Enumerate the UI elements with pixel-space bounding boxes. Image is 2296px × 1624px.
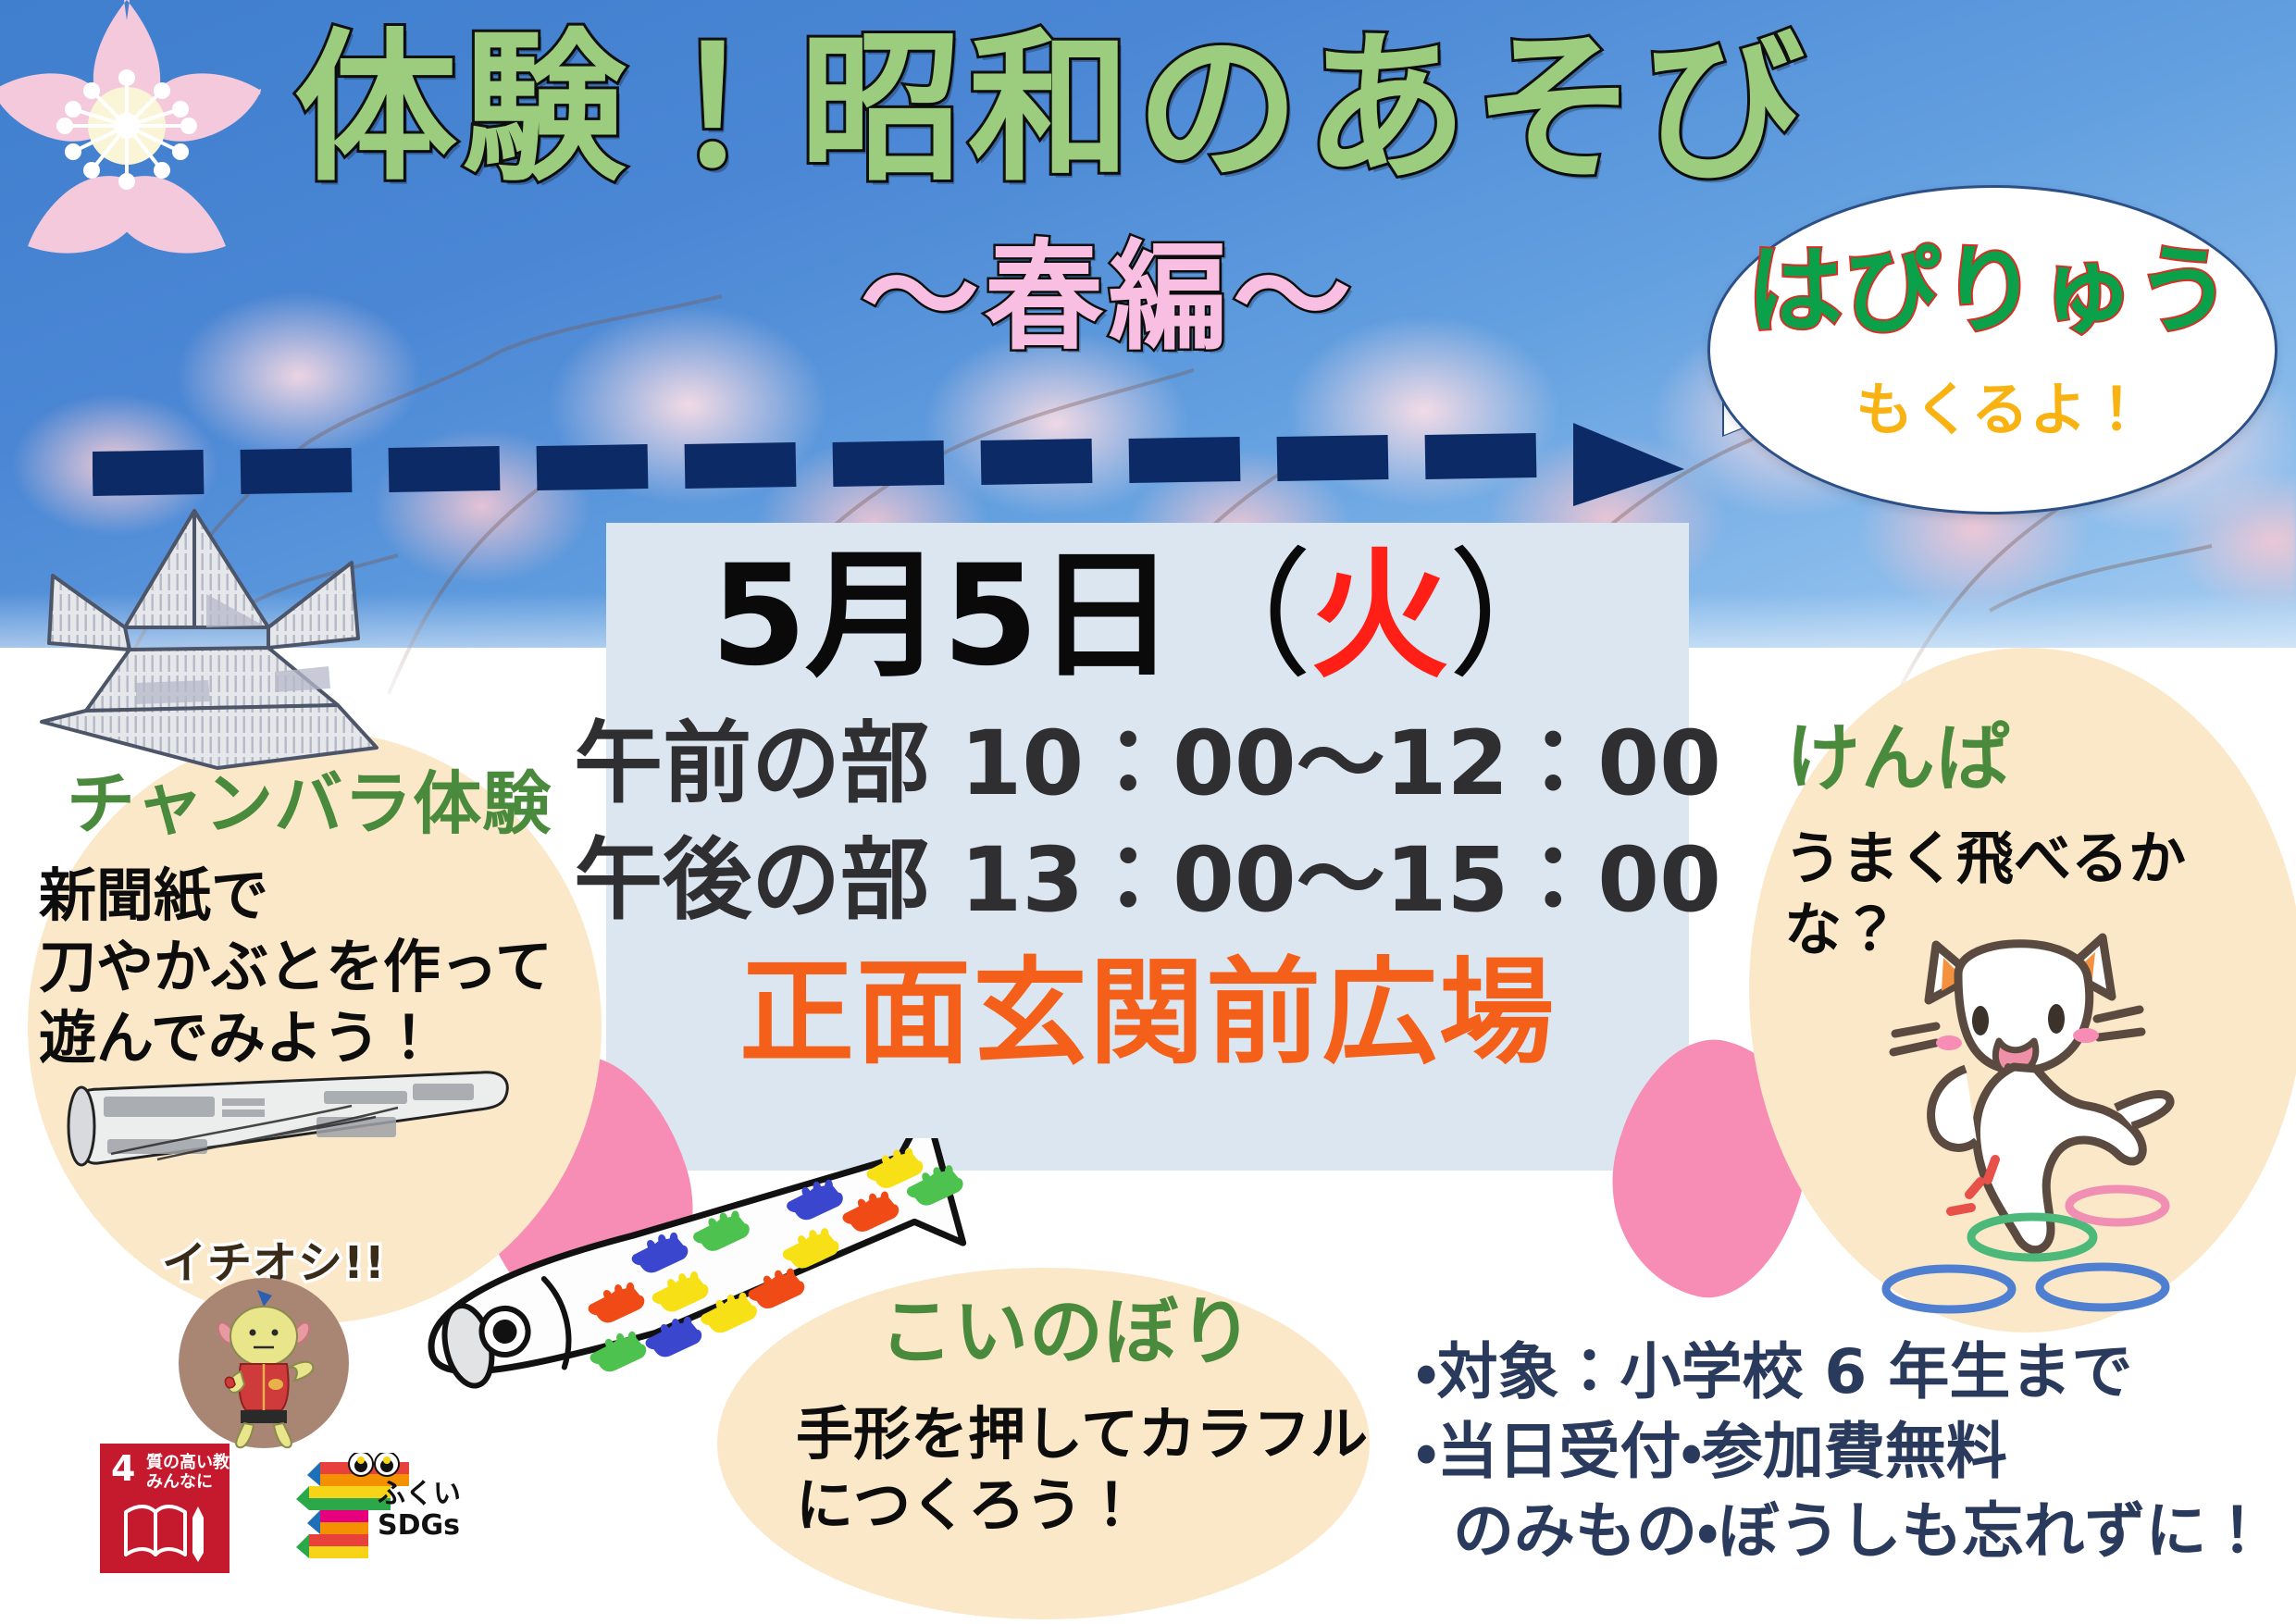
hopscotch-cat-illustration	[1869, 911, 2296, 1319]
note-line-2: ・当日受付・参加費無料	[1416, 1412, 2267, 1492]
callout-body-chanbara: 新聞紙で 刀やかぶとを作って 遊んでみよう！	[39, 861, 552, 1074]
event-weekday: 火	[1310, 536, 1447, 697]
callout-chanbara-line2: 刀やかぶとを作って	[39, 932, 552, 1003]
morning-session: 午前の部 10：00〜12：00	[574, 719, 1721, 808]
callout-koinobori-line2: につくろう！	[796, 1470, 1368, 1542]
event-date: 5月5日（火）	[711, 547, 1585, 686]
fukui-sdgs-label: ふくい SDGs	[378, 1479, 461, 1541]
callout-kenpa-line1: うまく飛べるかな？	[1784, 824, 2296, 966]
sdg-goal-4-card: 4 質の高い教育を みんなに	[100, 1444, 230, 1573]
callout-chanbara-line1: 新聞紙で	[39, 861, 552, 932]
callout-body-koinobori: 手形を押してカラフル につくろう！	[796, 1399, 1368, 1542]
note-line-3: のみもの・ぼうしも忘れずに！	[1416, 1492, 2267, 1571]
afternoon-session: 午後の部 13：00〜15：00	[574, 836, 1721, 924]
page-title: 体験！昭和のあそび	[294, 26, 1810, 192]
callout-chanbara-line3: 遊んでみよう！	[39, 1003, 552, 1074]
speech-bubble-line2: もくるよ！	[1855, 381, 2146, 439]
callout-body-kenpa: うまく飛べるかな？	[1784, 824, 2296, 966]
book-pencil-icon	[120, 1497, 209, 1564]
sakura-flower-icon	[0, 0, 270, 267]
event-notes: ・対象：小学校 6 年生まで ・当日受付・参加費無料 のみもの・ぼうしも忘れずに…	[1416, 1333, 2267, 1570]
sdg-goal-number: 4	[111, 1451, 135, 1486]
mascot-badge-icon	[176, 1275, 352, 1451]
note-line-1: ・対象：小学校 6 年生まで	[1416, 1333, 2267, 1412]
newspaper-kabuto-illustration	[32, 490, 412, 796]
callout-title-chanbara: チャンバラ体験	[67, 770, 552, 838]
event-info-panel: 5月5日（火） 午前の部 10：00〜12：00 午後の部 13：00〜15：0…	[606, 523, 1689, 1171]
callout-title-kenpa: けんぱ	[1786, 722, 2011, 796]
page-subtitle: 〜春編〜	[861, 239, 1357, 357]
callout-koinobori-line1: 手形を押してカラフル	[796, 1399, 1368, 1470]
event-date-text: 5月5日	[711, 536, 1174, 697]
mascot-speech-bubble: はぴりゅう もくるよ！	[1707, 185, 2272, 509]
paren-close: ）	[1447, 536, 1584, 697]
paren-open: （	[1173, 536, 1310, 697]
sdg-goal-text: 質の高い教育を みんなに	[146, 1453, 263, 1492]
event-venue: 正面玄関前広場	[739, 956, 1556, 1071]
speech-bubble-line1: はぴりゅう	[1746, 242, 2232, 339]
poster-canvas: 体験！昭和のあそび 〜春編〜 はぴりゅう もくるよ！ 5月5日（火） 午前の部 …	[0, 0, 2296, 1624]
callout-title-koinobori: こいのぼり	[879, 1295, 1254, 1370]
